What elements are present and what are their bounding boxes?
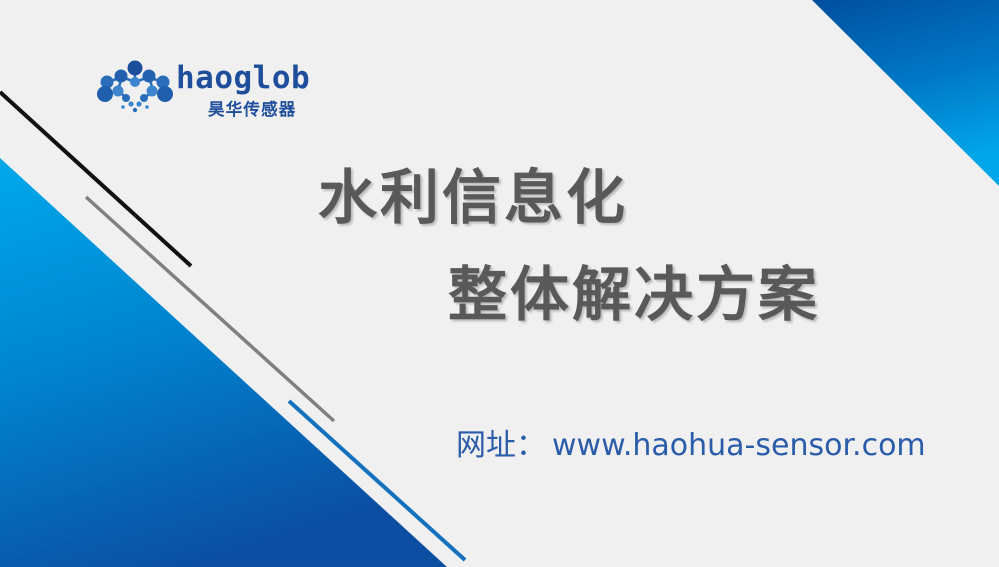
website-url[interactable]: www.haohua-sensor.com (552, 428, 926, 463)
logo-wordmark: haoglobe (176, 58, 311, 98)
logo-chinese-name: 昊华传感器 (208, 96, 297, 120)
title-line-2: 整体解决方案 (448, 265, 820, 324)
website-line: 网址：www.haohua-sensor.com (456, 420, 926, 464)
company-logo: haoglobe 昊华传感器 (96, 58, 311, 124)
svg-text:haoglobe: haoglobe (176, 60, 311, 96)
website-label: 网址： (456, 428, 546, 463)
presentation-slide: haoglobe 昊华传感器 水利信息化 整体解决方案 网址：www.haohu… (0, 0, 999, 567)
network-dots-logo-icon (96, 60, 174, 116)
title-line-1: 水利信息化 (318, 168, 628, 227)
